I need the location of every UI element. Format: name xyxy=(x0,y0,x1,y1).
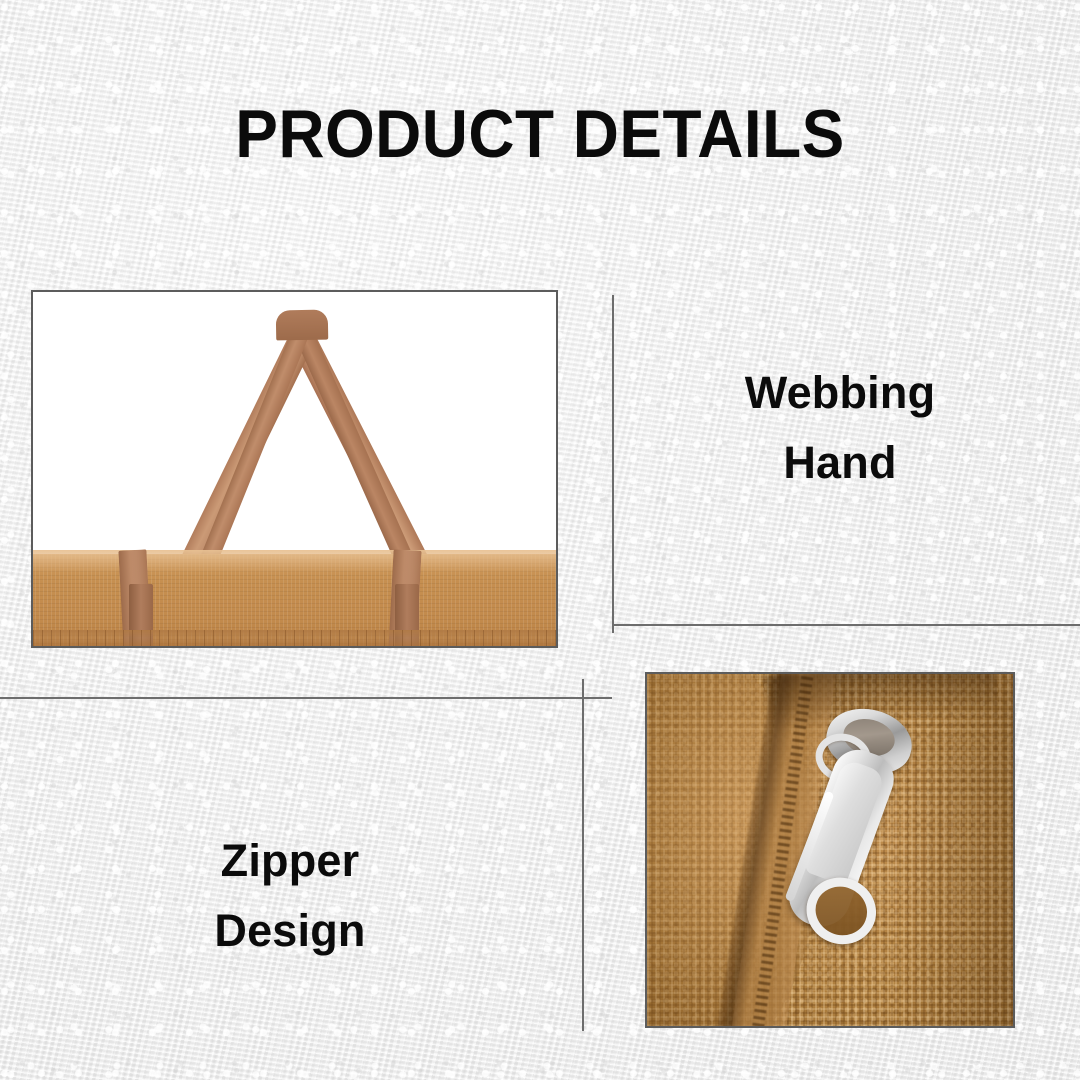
bag-bottom-seam xyxy=(31,630,558,648)
divider-vertical-bottom xyxy=(582,679,584,1031)
bag-top-highlight xyxy=(31,550,558,572)
webbing-strap-icon xyxy=(33,292,556,646)
handle-strap-peak xyxy=(276,310,329,341)
callout-webbing-line-1: Webbing xyxy=(640,358,1040,428)
divider-horizontal-bottom xyxy=(0,697,612,699)
canvas-fabric xyxy=(647,674,1013,1026)
callout-webbing: Webbing Hand xyxy=(640,358,1040,498)
zipper-closeup-photo xyxy=(645,672,1015,1028)
divider-vertical-top xyxy=(612,295,614,633)
page-title: PRODUCT DETAILS xyxy=(32,98,1047,170)
bag-handle-photo xyxy=(31,290,558,648)
callout-webbing-line-2: Hand xyxy=(640,428,1040,498)
callout-zipper-line-2: Design xyxy=(80,896,500,966)
product-details-infographic: PRODUCT DETAILS xyxy=(0,0,1080,1080)
callout-zipper-line-1: Zipper xyxy=(80,826,500,896)
divider-horizontal-top xyxy=(612,624,1080,626)
callout-zipper: Zipper Design xyxy=(80,826,500,966)
